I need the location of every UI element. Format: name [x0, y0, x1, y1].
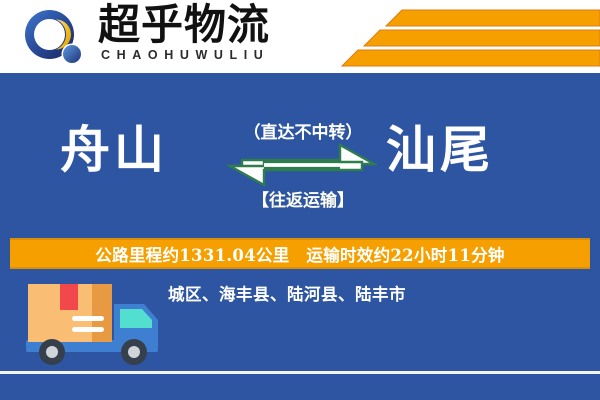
metrics-bar: 公路里程约1331.04公里 运输时效约22小时11分钟	[10, 238, 590, 269]
two-way-arrow-icon	[226, 140, 378, 190]
metrics-summary-text: 公路里程约1331.04公里 运输时效约22小时11分钟	[95, 242, 504, 266]
orange-speed-stripes	[290, 6, 600, 68]
round-trip-note: 【往返运输】	[218, 186, 388, 211]
coverage-districts: 城区、海丰县、陆河县、陆丰市	[168, 281, 406, 305]
delivery-truck-icon	[22, 278, 168, 372]
brand-name-en: CHAOHUWULIU	[101, 48, 269, 62]
banner-header: 超乎物流 CHAOHUWULIU	[0, 0, 600, 73]
road-line	[0, 371, 600, 374]
chaohu-logistics-circle-logo	[22, 9, 96, 67]
brand-name-cn: 超乎物流	[98, 2, 270, 48]
logistics-route-banner: 超乎物流 CHAOHUWULIU 舟山 汕尾 （直达不中转） 【往返运输】	[0, 0, 600, 400]
destination-city: 汕尾	[386, 122, 494, 178]
origin-city: 舟山	[60, 122, 168, 178]
